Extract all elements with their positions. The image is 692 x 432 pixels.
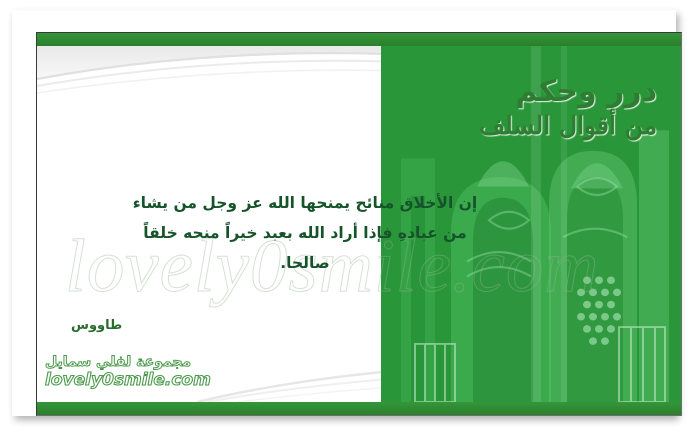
site-logo: مجموعة لفلي سمايل lovely0smile.com bbox=[45, 354, 211, 390]
quote-line-2: من عبادهِ فإذا أراد الله بعبد خيراً منحه… bbox=[57, 218, 553, 248]
quote-line-1: إن الأخلاق منائح يمنحها الله عز وجل من ي… bbox=[57, 188, 553, 218]
title-line-secondary: من أقوال السلف bbox=[479, 110, 657, 143]
quote-line-3: صالحا. bbox=[57, 248, 553, 278]
quote-text: إن الأخلاق منائح يمنحها الله عز وجل من ي… bbox=[57, 188, 553, 278]
top-green-bar bbox=[37, 33, 681, 46]
logo-site-url: lovely0smile.com bbox=[45, 371, 211, 390]
title-line-primary: درر وحكم bbox=[479, 76, 657, 108]
header-title: درر وحكم من أقوال السلف bbox=[479, 76, 657, 142]
bottom-green-bar bbox=[37, 402, 681, 415]
logo-arabic-name: مجموعة لفلي سمايل bbox=[45, 354, 211, 371]
quote-card: lovely0smile.com درر وحكم من أقوال السلف… bbox=[0, 0, 692, 432]
inner-frame: lovely0smile.com درر وحكم من أقوال السلف… bbox=[36, 32, 682, 416]
card-canvas: lovely0smile.com درر وحكم من أقوال السلف… bbox=[37, 46, 681, 402]
quote-attribution: طاووس bbox=[71, 318, 122, 333]
page-sheet: lovely0smile.com درر وحكم من أقوال السلف… bbox=[12, 10, 676, 416]
